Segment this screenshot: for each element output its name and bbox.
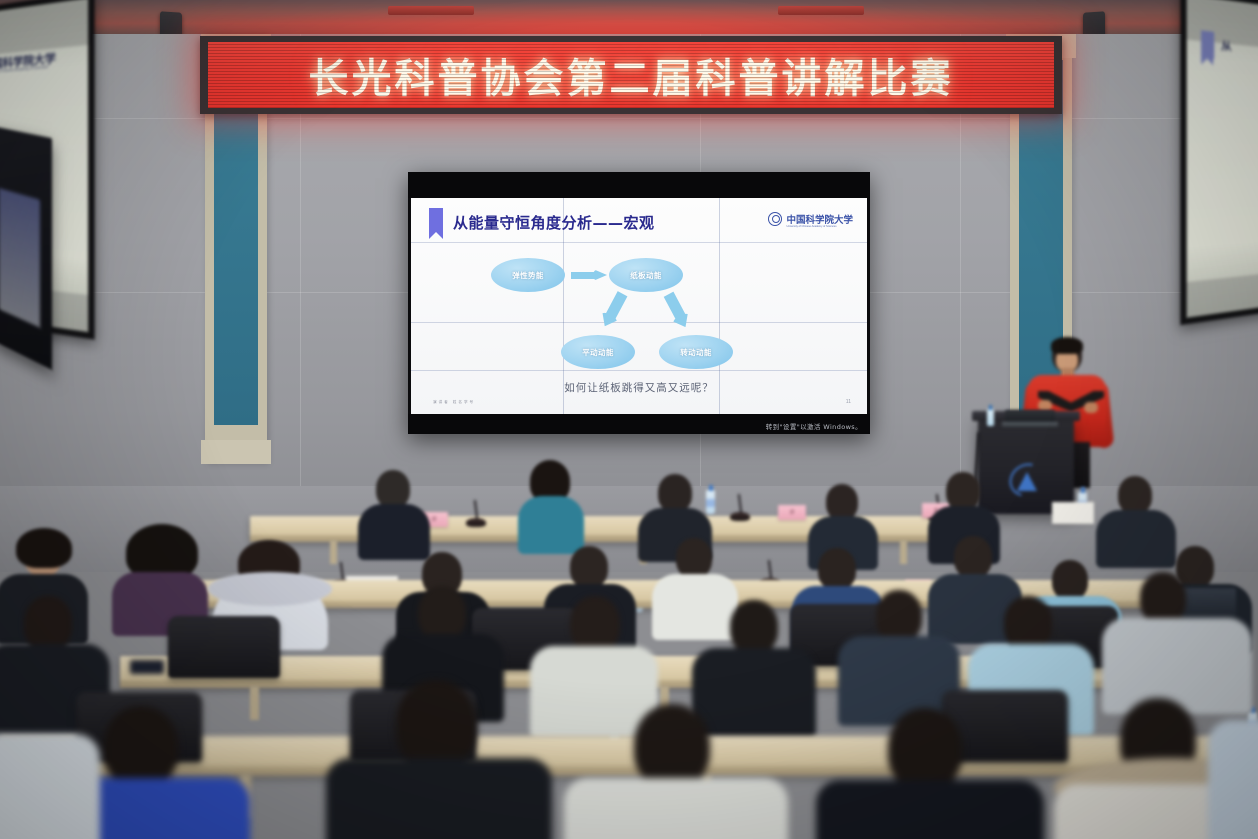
slide-page-number: 11: [846, 399, 851, 405]
diagram-node: 转动动能: [659, 335, 733, 369]
arrow-right-icon: [571, 269, 607, 281]
name-placard: 评: [778, 505, 806, 520]
windows-activation-watermark: 转到"设置"以激活 Windows。: [766, 421, 862, 431]
microphone-icon: [730, 512, 750, 521]
university-name-english: University of Chinese Academy of Science…: [786, 225, 836, 228]
ceiling: [0, 0, 1258, 36]
laptop-icon: [1002, 410, 1058, 428]
ceiling-vent: [388, 6, 474, 15]
slide-question-text: 如何让纸板跳得又高又远呢？: [411, 380, 867, 395]
side-monitor-right-title: 从: [1221, 37, 1232, 55]
ceiling-vent: [778, 6, 864, 15]
presenter-hair: [1051, 337, 1083, 354]
slide-footer-text: 演讲者 姓名学号: [433, 400, 475, 405]
bookmark-icon: [429, 208, 443, 232]
diagram-node: 纸板动能: [609, 258, 683, 292]
led-banner: 长光科普协会第二届科普讲解比赛: [200, 36, 1062, 114]
bookmark-icon: [1201, 30, 1214, 59]
left-wall-dark-display: [0, 126, 52, 370]
lecture-hall-scene: 长光科普协会第二届科普讲解比赛 中国科学院大学 University of Ch…: [0, 0, 1258, 839]
podium: [978, 418, 1074, 514]
diagram-node: 平动动能: [561, 335, 635, 369]
ceiling-red-glow: [150, 0, 1110, 36]
phone-icon: [130, 660, 164, 674]
water-bottle-icon: [706, 490, 715, 514]
pilaster-teal-panel: [214, 60, 259, 426]
arrow-down-right-icon: [664, 291, 692, 330]
microphone-icon: [466, 518, 486, 527]
slide-title: 从能量守恒角度分析——宏观: [453, 212, 655, 233]
arrow-down-left-icon: [600, 291, 628, 330]
university-name: 中国科学院大学: [786, 212, 853, 226]
institute-emblem-icon: [1006, 460, 1048, 502]
water-bottle-icon: [987, 409, 994, 426]
diagram-node: 弹性势能: [491, 258, 565, 292]
chair: [168, 616, 280, 678]
presentation-slide: 从能量守恒角度分析——宏观 中国科学院大学 University of Chin…: [411, 198, 867, 414]
paper-sheet: [1052, 502, 1094, 524]
led-banner-text: 长光科普协会第二届科普讲解比赛: [208, 42, 1054, 108]
led-screen: 长光科普协会第二届科普讲解比赛: [208, 42, 1054, 108]
university-logo: 中国科学院大学 University of Chinese Academy of…: [768, 212, 853, 226]
side-monitor-right: 从 · · · ·: [1180, 0, 1258, 325]
university-seal-icon: [768, 212, 782, 226]
laptop-icon: [1178, 588, 1236, 622]
projection-video-wall: 从能量守恒角度分析——宏观 中国科学院大学 University of Chin…: [408, 172, 870, 434]
